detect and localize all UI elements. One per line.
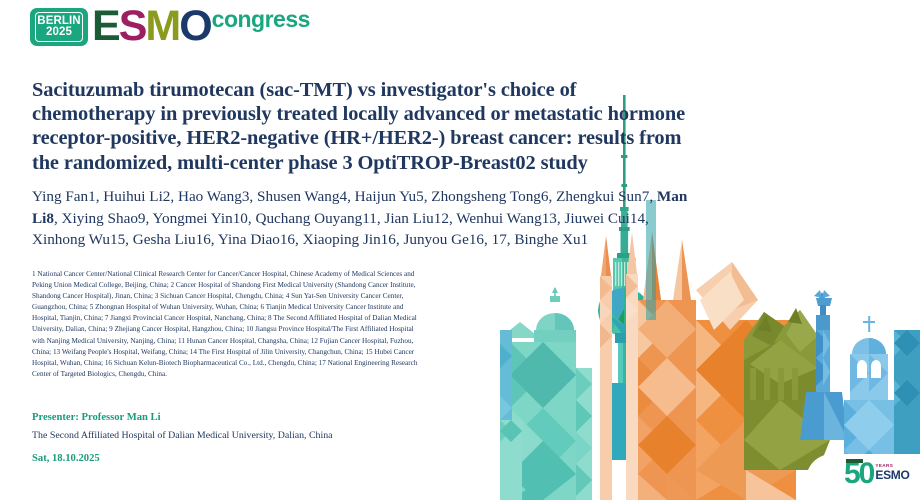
authors-after-presenter: , Xiying Shao9, Yongmei Yin10, Quchang O… <box>32 210 649 249</box>
presentation-date: Sat, 18.10.2025 <box>32 452 362 466</box>
anniversary-org-label: ESMO <box>875 469 909 481</box>
esmo-letter-s: S <box>119 5 146 48</box>
esmo-letter-m: M <box>145 5 179 48</box>
anniversary-accent-bar <box>846 459 863 463</box>
congress-label: congress <box>212 6 310 33</box>
esmo-letter-e: E <box>92 5 119 48</box>
badge-year-label: 2025 <box>46 27 72 39</box>
presentation-slide: BERLIN 2025 E S M O congress Sacituzumab… <box>0 0 920 500</box>
anniversary-number: 50 <box>844 460 873 487</box>
presentation-title: Sacituzumab tirumotecan (sac-TMT) vs inv… <box>32 78 692 175</box>
esmo-wordmark: E S M O <box>92 5 211 48</box>
presenter-block: Presenter: Professor Man Li The Second A… <box>32 411 362 466</box>
esmo-letter-o: O <box>179 5 210 48</box>
esmo-50-years-logo: 50 YEARS ESMO <box>828 452 914 498</box>
presenter-name: Presenter: Professor Man Li <box>32 411 362 425</box>
berlin-2025-badge: BERLIN 2025 <box>30 8 88 46</box>
authors-before-presenter: Ying Fan1, Huihui Li2, Hao Wang3, Shusen… <box>32 188 657 205</box>
esmo-congress-logo: BERLIN 2025 E S M O congress <box>30 5 310 49</box>
presenter-affiliation: The Second Affiliated Hospital of Dalian… <box>32 429 362 442</box>
author-list: Ying Fan1, Huihui Li2, Hao Wang3, Shusen… <box>32 186 692 251</box>
affiliations-text: 1 National Cancer Center/National Clinic… <box>32 269 422 380</box>
